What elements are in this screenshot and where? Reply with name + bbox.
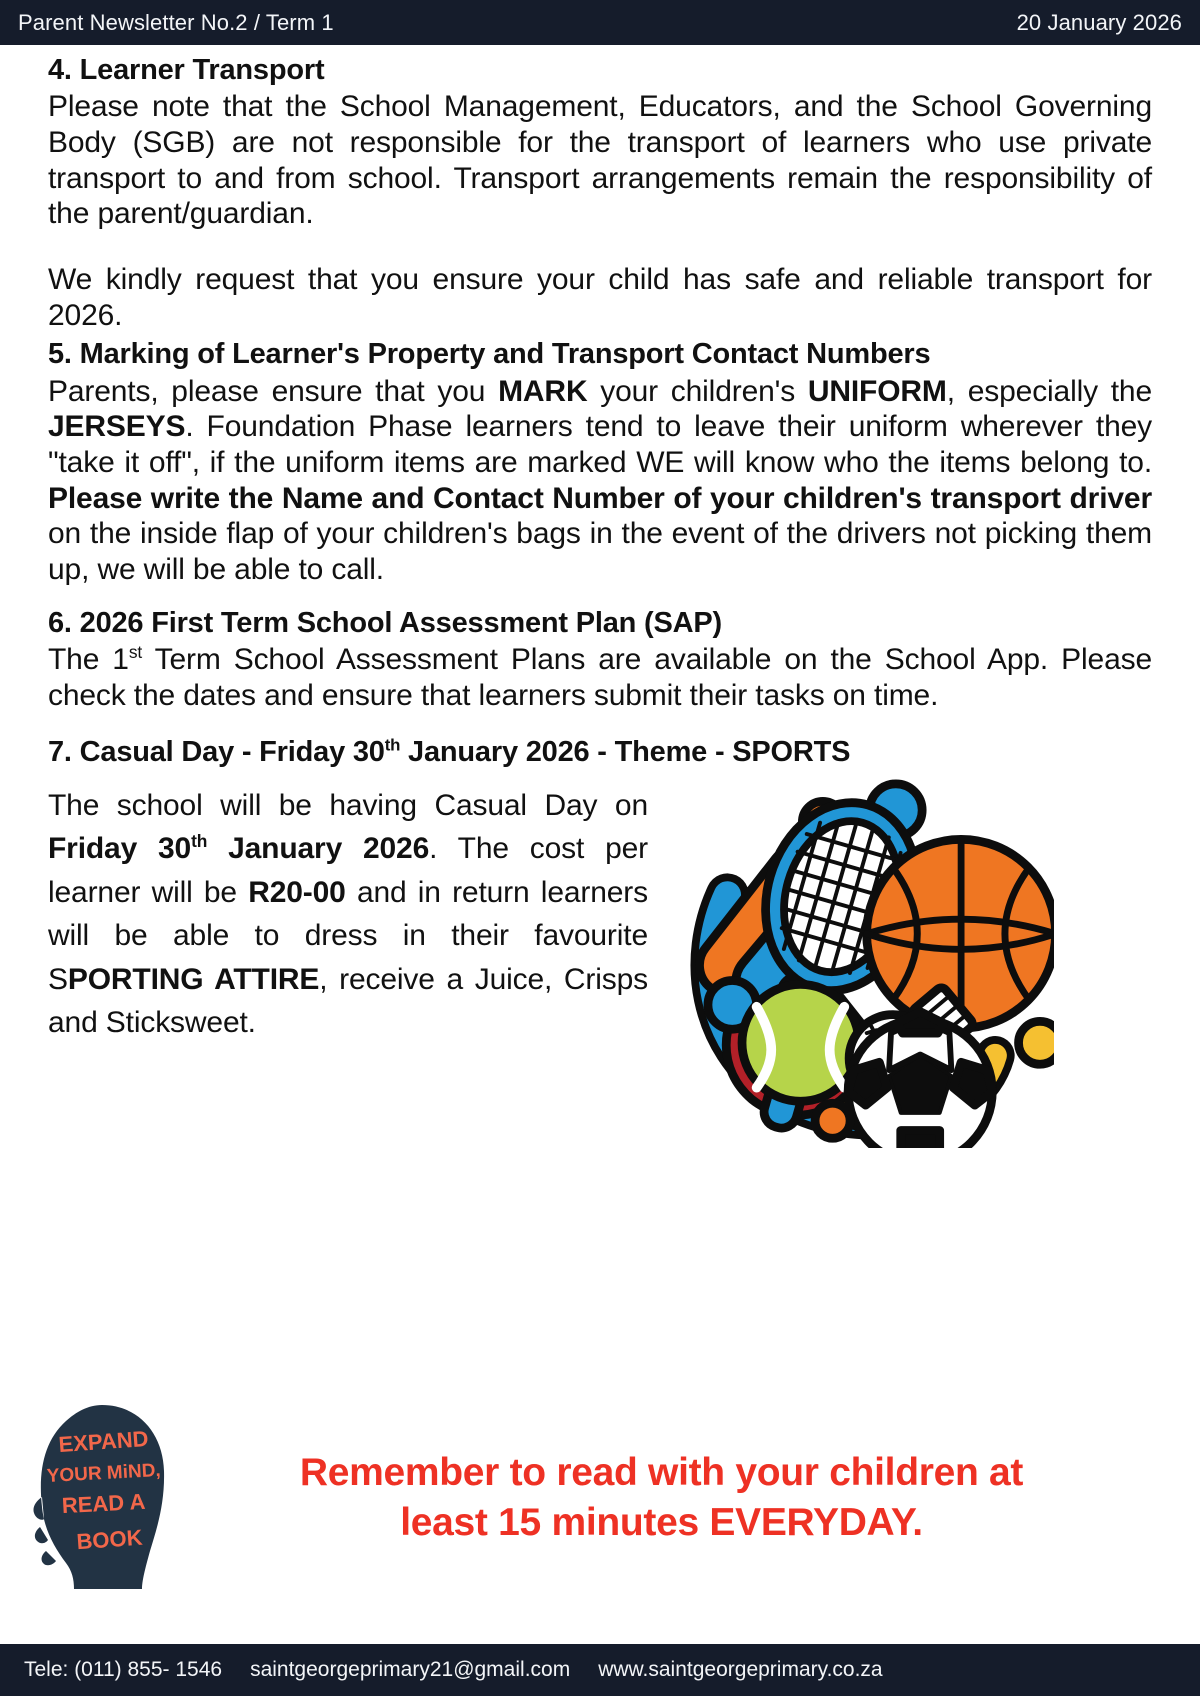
s7-bold-date-sup: th	[191, 832, 207, 865]
s5-text-2: your children's	[587, 375, 807, 408]
section-4-paragraph-1: Please note that the School Management, …	[48, 89, 1152, 232]
s7-bold-date-a: Friday 30	[48, 832, 191, 865]
s6-ordinal-suffix: st	[129, 642, 142, 662]
svg-text:BOOK: BOOK	[76, 1524, 144, 1554]
s5-text-4: . Foundation Phase learners tend to leav…	[48, 410, 1152, 479]
footer-email[interactable]: saintgeorgeprimary21@gmail.com	[250, 1658, 570, 1682]
read-reminder-line-2: least 15 minutes EVERYDAY.	[193, 1498, 1130, 1548]
section-5-paragraph: Parents, please ensure that you MARK you…	[48, 374, 1152, 588]
read-a-book-head-icon: EXPAND YOUR MiND, READ A BOOK	[30, 1401, 175, 1596]
section-6-paragraph: The 1st Term School Assessment Plans are…	[48, 642, 1152, 713]
s7-text-1: The school will be having Casual Day on	[48, 789, 648, 822]
s7-bold-sporting-attire: PORTING ATTIRE	[68, 963, 319, 996]
s5-text-5: on the inside flap of your children's ba…	[48, 517, 1152, 586]
s5-bold-mark: MARK	[498, 375, 587, 408]
s6-text-1: The 1	[48, 643, 129, 676]
casual-day-block: The school will be having Casual Day on …	[48, 784, 1152, 1148]
footer-website[interactable]: www.saintgeorgeprimary.co.za	[598, 1658, 882, 1682]
sports-equipment-illustration	[654, 778, 1054, 1148]
section-6-heading: 6. 2026 First Term School Assessment Pla…	[48, 606, 1152, 640]
s5-bold-uniform: UNIFORM	[808, 375, 947, 408]
casual-day-paragraph: The school will be having Casual Day on …	[48, 784, 648, 1045]
read-reminder-line-1: Remember to read with your children at	[193, 1448, 1130, 1498]
s5-text-3: , especially the	[947, 375, 1152, 408]
footer-phone: Tele: (011) 855- 1546	[24, 1658, 222, 1682]
read-reminder-text: Remember to read with your children at l…	[183, 1448, 1170, 1548]
s7-heading-part-1: 7. Casual Day - Friday 30	[48, 736, 385, 768]
s5-text-1: Parents, please ensure that you	[48, 375, 498, 408]
s6-text-2: Term School Assessment Plans are availab…	[48, 643, 1152, 712]
s7-text-4: S	[48, 963, 68, 996]
section-7-heading: 7. Casual Day - Friday 30th January 2026…	[48, 735, 1152, 769]
s7-bold-price: R20-00	[248, 876, 346, 909]
section-4-paragraph-2: We kindly request that you ensure your c…	[48, 262, 1152, 333]
footer-bar: Tele: (011) 855- 1546 saintgeorgeprimary…	[0, 1644, 1200, 1696]
s5-bold-jerseys: JERSEYS	[48, 410, 185, 443]
newsletter-title: Parent Newsletter No.2 / Term 1	[18, 10, 334, 36]
s7-bold-date-b: January 2026	[207, 832, 429, 865]
newsletter-date: 20 January 2026	[1017, 10, 1182, 36]
section-5-heading: 5. Marking of Learner's Property and Tra…	[48, 337, 1152, 371]
svg-text:READ A: READ A	[61, 1488, 146, 1517]
page-content: 4. Learner Transport Please note that th…	[0, 45, 1200, 1644]
s7-heading-part-2: January 2026 - Theme - SPORTS	[400, 736, 850, 768]
section-4-heading: 4. Learner Transport	[48, 53, 1152, 87]
s5-bold-write-name: Please write the Name and Contact Number…	[48, 482, 1152, 515]
header-bar: Parent Newsletter No.2 / Term 1 20 Janua…	[0, 0, 1200, 45]
read-reminder-banner: EXPAND YOUR MiND, READ A BOOK Remember t…	[30, 1398, 1170, 1598]
s7-heading-ordinal: th	[385, 736, 400, 755]
